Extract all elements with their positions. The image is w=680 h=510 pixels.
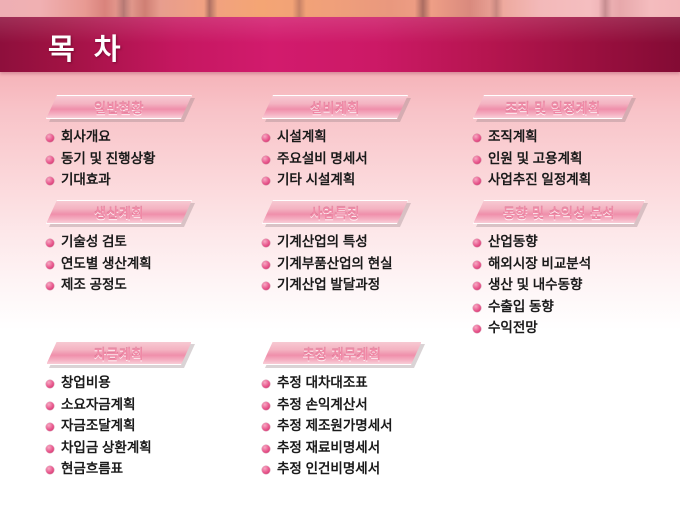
section-header-label: 설비계획: [310, 98, 360, 117]
section-header-ribbon[interactable]: 조직 및 일정계획: [473, 95, 633, 119]
section-item-list: 기술성 검토 연도별 생산계획 제조 공정도: [46, 233, 192, 297]
bullet-icon: [473, 134, 481, 142]
section-item-list: 기계산업의 특성 기계부품산업의 현실 기계산업 발달과정: [262, 233, 408, 297]
list-item-label: 산업동향: [488, 232, 538, 253]
section-production-plan: 생산계획 기술성 검토 연도별 생산계획 제조 공정도: [46, 200, 192, 298]
list-item[interactable]: 동기 및 진행상황: [46, 150, 192, 171]
bullet-icon: [473, 239, 481, 247]
list-item-label: 시설계획: [277, 127, 327, 148]
bullet-icon: [46, 261, 54, 269]
list-item-label: 조직계획: [488, 127, 538, 148]
list-item-label: 기계부품산업의 현실: [277, 254, 393, 275]
list-item-label: 추정 재료비명세서: [277, 438, 380, 459]
list-item-label: 인원 및 고용계획: [488, 149, 582, 170]
bullet-icon: [262, 239, 270, 247]
list-item-label: 추정 제조원가명세서: [277, 416, 393, 437]
list-item-label: 차입금 상환계획: [61, 438, 152, 459]
list-item-label: 현금흐름표: [61, 459, 123, 480]
list-item[interactable]: 수출입 동향: [473, 298, 645, 319]
section-header-label: 사업특징: [310, 203, 360, 222]
list-item[interactable]: 생산 및 내수동향: [473, 276, 645, 297]
section-header-label: 추정 재무계획: [303, 344, 382, 363]
bullet-icon: [46, 177, 54, 185]
list-item[interactable]: 연도별 생산계획: [46, 255, 192, 276]
bullet-icon: [262, 134, 270, 142]
section-facility-plan: 설비계획 시설계획 주요설비 명세서 기타 시설계획: [262, 95, 408, 193]
list-item[interactable]: 조직계획: [473, 128, 633, 149]
list-item[interactable]: 수익전망: [473, 319, 645, 340]
bullet-icon: [262, 261, 270, 269]
list-item[interactable]: 회사개요: [46, 128, 192, 149]
list-item-label: 해외시장 비교분석: [488, 254, 591, 275]
section-header-label: 자금계획: [94, 344, 144, 363]
bullet-icon: [46, 466, 54, 474]
list-item[interactable]: 제조 공정도: [46, 276, 192, 297]
list-item-label: 소요자금계획: [61, 395, 136, 416]
section-header-wrap: 일반현황: [46, 95, 192, 119]
list-item-label: 창업비용: [61, 373, 111, 394]
bullet-icon: [46, 380, 54, 388]
list-item-label: 추정 손익계산서: [277, 395, 368, 416]
list-item[interactable]: 기계산업의 특성: [262, 233, 408, 254]
bullet-icon: [473, 325, 481, 333]
section-funding-plan: 자금계획 창업비용 소요자금계획 자금조달계획 차입금 상환계획 현금흐름표: [46, 341, 192, 482]
list-item[interactable]: 산업동향: [473, 233, 645, 254]
list-item[interactable]: 자금조달계획: [46, 417, 192, 438]
section-estimated-financial-plan: 추정 재무계획 추정 대차대조표 추정 손익계산서 추정 제조원가명세서 추정 …: [262, 341, 422, 482]
list-item-label: 추정 대차대조표: [277, 373, 368, 394]
list-item-label: 기대효과: [61, 170, 111, 191]
section-trend-profitability: 동향 및 수익성 분석 산업동향 해외시장 비교분석 생산 및 내수동향 수출입…: [473, 200, 645, 341]
section-item-list: 시설계획 주요설비 명세서 기타 시설계획: [262, 128, 408, 192]
bullet-icon: [473, 156, 481, 164]
bullet-icon: [262, 380, 270, 388]
section-header-label: 동향 및 수익성 분석: [503, 203, 615, 222]
section-header-ribbon[interactable]: 생산계획: [46, 200, 192, 224]
list-item-label: 동기 및 진행상황: [61, 149, 155, 170]
bullet-icon: [262, 282, 270, 290]
section-header-ribbon[interactable]: 사업특징: [262, 200, 408, 224]
section-item-list: 창업비용 소요자금계획 자금조달계획 차입금 상환계획 현금흐름표: [46, 374, 192, 481]
list-item[interactable]: 해외시장 비교분석: [473, 255, 645, 276]
section-item-list: 추정 대차대조표 추정 손익계산서 추정 제조원가명세서 추정 재료비명세서 추…: [262, 374, 422, 481]
list-item[interactable]: 소요자금계획: [46, 396, 192, 417]
list-item[interactable]: 창업비용: [46, 374, 192, 395]
section-header-ribbon[interactable]: 설비계획: [262, 95, 408, 119]
list-item-label: 기술성 검토: [61, 232, 127, 253]
list-item[interactable]: 기술성 검토: [46, 233, 192, 254]
section-header-ribbon[interactable]: 자금계획: [46, 341, 192, 365]
list-item-label: 생산 및 내수동향: [488, 275, 582, 296]
bullet-icon: [46, 134, 54, 142]
section-header-ribbon[interactable]: 동향 및 수익성 분석: [473, 200, 645, 224]
list-item-label: 자금조달계획: [61, 416, 136, 437]
list-item[interactable]: 추정 재료비명세서: [262, 439, 422, 460]
list-item[interactable]: 추정 손익계산서: [262, 396, 422, 417]
list-item[interactable]: 시설계획: [262, 128, 408, 149]
list-item-label: 제조 공정도: [61, 275, 127, 296]
section-header-label: 생산계획: [94, 203, 144, 222]
list-item[interactable]: 현금흐름표: [46, 460, 192, 481]
bullet-icon: [473, 261, 481, 269]
bullet-icon: [262, 466, 270, 474]
list-item[interactable]: 주요설비 명세서: [262, 150, 408, 171]
list-item-label: 기계산업 발달과정: [277, 275, 380, 296]
list-item[interactable]: 추정 제조원가명세서: [262, 417, 422, 438]
section-header-wrap: 생산계획: [46, 200, 192, 224]
list-item[interactable]: 차입금 상환계획: [46, 439, 192, 460]
list-item-label: 수출입 동향: [488, 297, 554, 318]
list-item[interactable]: 기대효과: [46, 171, 192, 192]
list-item[interactable]: 기타 시설계획: [262, 171, 408, 192]
bullet-icon: [262, 156, 270, 164]
section-header-ribbon[interactable]: 일반현황: [46, 95, 192, 119]
section-header-label: 일반현황: [94, 98, 144, 117]
list-item[interactable]: 추정 인건비명세서: [262, 460, 422, 481]
section-header-label: 조직 및 일정계획: [505, 98, 600, 117]
section-header-ribbon[interactable]: 추정 재무계획: [262, 341, 422, 365]
list-item[interactable]: 기계산업 발달과정: [262, 276, 408, 297]
bullet-icon: [262, 402, 270, 410]
section-header-wrap: 사업특징: [262, 200, 408, 224]
section-item-list: 산업동향 해외시장 비교분석 생산 및 내수동향 수출입 동향 수익전망: [473, 233, 645, 340]
section-organization-schedule: 조직 및 일정계획 조직계획 인원 및 고용계획 사업추진 일정계획: [473, 95, 633, 193]
bullet-icon: [46, 402, 54, 410]
section-item-list: 회사개요 동기 및 진행상황 기대효과: [46, 128, 192, 192]
title-banner: 목 차: [0, 17, 680, 72]
section-general-status: 일반현황 회사개요 동기 및 진행상황 기대효과: [46, 95, 192, 193]
bullet-icon: [46, 156, 54, 164]
list-item-label: 수익전망: [488, 318, 538, 339]
section-header-wrap: 설비계획: [262, 95, 408, 119]
page-title: 목 차: [48, 26, 121, 68]
list-item-label: 기계산업의 특성: [277, 232, 368, 253]
list-item[interactable]: 사업추진 일정계획: [473, 171, 633, 192]
list-item[interactable]: 인원 및 고용계획: [473, 150, 633, 171]
list-item-label: 사업추진 일정계획: [488, 170, 591, 191]
bullet-icon: [46, 282, 54, 290]
section-header-wrap: 추정 재무계획: [262, 341, 422, 365]
list-item[interactable]: 추정 대차대조표: [262, 374, 422, 395]
bullet-icon: [262, 423, 270, 431]
section-header-wrap: 자금계획: [46, 341, 192, 365]
bullet-icon: [46, 445, 54, 453]
slide-canvas: 목 차 일반현황 회사개요 동기 및 진행상황 기대효과 설비계획 시설계획 주…: [0, 0, 680, 510]
decorative-top-strip: [0, 0, 680, 18]
bullet-icon: [473, 282, 481, 290]
bullet-icon: [473, 177, 481, 185]
section-header-wrap: 동향 및 수익성 분석: [473, 200, 645, 224]
bullet-icon: [46, 239, 54, 247]
list-item[interactable]: 기계부품산업의 현실: [262, 255, 408, 276]
list-item-label: 추정 인건비명세서: [277, 459, 380, 480]
bullet-icon: [46, 423, 54, 431]
list-item-label: 주요설비 명세서: [277, 149, 368, 170]
section-business-features: 사업특징 기계산업의 특성 기계부품산업의 현실 기계산업 발달과정: [262, 200, 408, 298]
bullet-icon: [262, 177, 270, 185]
list-item-label: 회사개요: [61, 127, 111, 148]
list-item-label: 연도별 생산계획: [61, 254, 152, 275]
list-item-label: 기타 시설계획: [277, 170, 355, 191]
bullet-icon: [473, 304, 481, 312]
bullet-icon: [262, 445, 270, 453]
section-header-wrap: 조직 및 일정계획: [473, 95, 633, 119]
section-item-list: 조직계획 인원 및 고용계획 사업추진 일정계획: [473, 128, 633, 192]
